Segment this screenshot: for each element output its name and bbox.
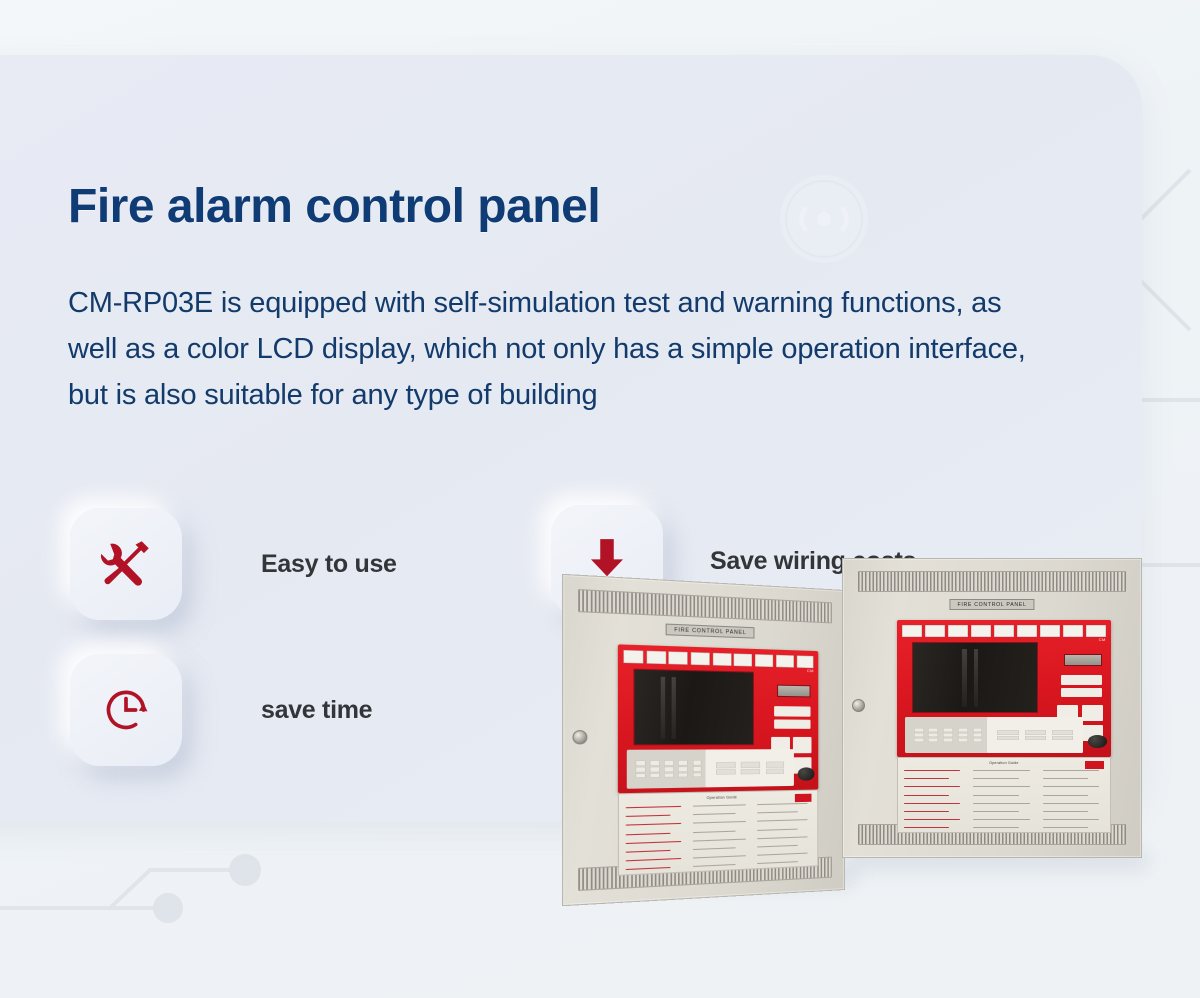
led-indicator <box>1086 625 1106 637</box>
led-indicator <box>713 653 731 666</box>
lcd-glint <box>672 677 676 739</box>
side-button[interactable] <box>1061 675 1103 685</box>
product-description: CM-RP03E is equipped with self-simulatio… <box>68 280 1043 418</box>
vent-top <box>579 589 832 623</box>
test-button[interactable] <box>741 762 760 768</box>
led-indicator <box>1017 625 1037 637</box>
guide-column <box>693 804 750 868</box>
panel-nameplate: FIRE CONTROL PANEL <box>949 599 1034 610</box>
led-indicator <box>646 651 665 665</box>
keypad-key[interactable] <box>692 772 701 777</box>
clock-rotate-icon <box>98 682 154 738</box>
guide-column <box>973 770 1034 829</box>
keypad-key[interactable] <box>958 733 968 737</box>
panel-enclosure: FIRE CONTROL PANEL <box>842 558 1142 858</box>
guide-column <box>904 770 965 829</box>
segment-display <box>777 684 811 698</box>
operation-guide-sheet: Operation Guide <box>618 790 818 876</box>
keypad-key[interactable] <box>943 728 953 732</box>
led-indicator <box>734 653 752 666</box>
panel-enclosure: FIRE CONTROL PANEL <box>562 574 845 906</box>
fire-alarm-panel-front[interactable]: FIRE CONTROL PANEL <box>842 558 1142 858</box>
keypad-key[interactable] <box>958 728 968 732</box>
panel-nameplate: FIRE CONTROL PANEL <box>666 624 755 639</box>
side-button[interactable] <box>774 706 811 716</box>
panel-lock-icon[interactable] <box>852 699 865 712</box>
fire-alarm-panel-angled[interactable]: FIRE CONTROL PANEL <box>562 574 845 906</box>
feature-label: save time <box>261 696 372 725</box>
test-button[interactable] <box>1052 736 1073 741</box>
test-button-pad[interactable] <box>706 750 794 788</box>
led-indicator <box>948 625 968 637</box>
keypad-key[interactable] <box>928 738 938 742</box>
control-face: CM <box>618 644 818 793</box>
feature-icon-card <box>70 508 182 620</box>
operation-guide-sheet: Operation Guide <box>897 757 1112 833</box>
led-indicator <box>1063 625 1083 637</box>
keypad-key[interactable] <box>650 767 660 772</box>
test-button[interactable] <box>716 762 736 768</box>
keypad-key[interactable] <box>678 766 687 771</box>
control-button[interactable] <box>793 737 812 754</box>
keypad-key[interactable] <box>692 766 701 771</box>
keypad-key[interactable] <box>650 773 660 778</box>
reset-button[interactable] <box>1088 735 1107 747</box>
feature-item-save-time[interactable]: save time <box>70 654 372 766</box>
lcd-glint <box>661 676 665 738</box>
brand-logo <box>1085 761 1104 769</box>
feature-item-easy-to-use[interactable]: Easy to use <box>70 508 397 620</box>
keypad-key[interactable] <box>635 761 645 766</box>
brand-logo <box>795 794 812 803</box>
led-indicator <box>691 652 710 666</box>
keypad-key[interactable] <box>664 760 674 765</box>
led-indicator-row <box>902 625 1106 637</box>
test-button[interactable] <box>741 769 760 775</box>
led-indicator <box>1040 625 1060 637</box>
keypad-key[interactable] <box>914 733 924 737</box>
feature-label: Easy to use <box>261 550 397 579</box>
guide-columns <box>626 803 812 872</box>
circuit-nodes-decoration <box>0 808 340 958</box>
lcd-glint <box>962 649 966 707</box>
led-indicator <box>994 625 1014 637</box>
guide-column <box>626 806 686 872</box>
keypad-key[interactable] <box>650 760 660 765</box>
keypad-key[interactable] <box>664 773 674 778</box>
test-button[interactable] <box>1025 736 1046 741</box>
guide-title: Operation Guide <box>707 795 737 800</box>
feature-icon-card <box>70 654 182 766</box>
guide-column <box>757 803 811 865</box>
lcd-screen <box>633 669 753 746</box>
test-button[interactable] <box>997 736 1018 741</box>
keypad-key[interactable] <box>678 760 687 765</box>
brand-label: CM <box>807 667 814 672</box>
led-indicator <box>902 625 922 637</box>
test-button[interactable] <box>716 769 736 775</box>
segment-display <box>1064 654 1102 667</box>
numeric-keypad[interactable] <box>627 750 710 789</box>
reset-button[interactable] <box>798 768 815 781</box>
led-indicator <box>624 650 644 664</box>
lcd-screen <box>912 642 1039 713</box>
keypad-key[interactable] <box>973 738 983 742</box>
guide-columns <box>904 770 1104 829</box>
test-button[interactable] <box>1052 730 1073 735</box>
lcd-glint <box>974 649 978 707</box>
keypad-key[interactable] <box>943 738 953 742</box>
test-button[interactable] <box>997 730 1018 735</box>
vent-top <box>858 571 1126 592</box>
test-button[interactable] <box>766 761 785 767</box>
side-button[interactable] <box>1061 688 1103 698</box>
keypad-key[interactable] <box>678 773 687 778</box>
keypad-key[interactable] <box>928 733 938 737</box>
keypad-key[interactable] <box>664 767 674 772</box>
keypad-key[interactable] <box>914 728 924 732</box>
keypad-key[interactable] <box>973 733 983 737</box>
keypad-key[interactable] <box>635 773 645 778</box>
control-button[interactable] <box>1082 705 1103 722</box>
led-indicator-row <box>624 650 814 669</box>
smoke-detector-icon <box>778 173 870 265</box>
side-button[interactable] <box>774 719 811 729</box>
led-indicator <box>669 651 688 665</box>
led-indicator <box>755 654 773 667</box>
guide-title: Operation Guide <box>989 761 1018 765</box>
keypad-key[interactable] <box>958 738 968 742</box>
tools-wrench-screwdriver-icon <box>98 536 154 592</box>
guide-column <box>1043 770 1104 829</box>
brand-label: CM <box>1099 637 1106 642</box>
keypad-key[interactable] <box>635 767 645 772</box>
keypad-key[interactable] <box>692 760 701 765</box>
test-button-pad[interactable] <box>987 717 1084 753</box>
test-button[interactable] <box>766 768 785 774</box>
numeric-keypad[interactable] <box>905 717 991 753</box>
product-image-group: FIRE CONTROL PANEL <box>520 520 1200 940</box>
keypad-key[interactable] <box>943 733 953 737</box>
keypad-key[interactable] <box>928 728 938 732</box>
led-indicator <box>925 625 945 637</box>
test-button[interactable] <box>1025 730 1046 735</box>
panel-lock-icon[interactable] <box>573 730 588 744</box>
keypad-key[interactable] <box>914 738 924 742</box>
page-title: Fire alarm control panel <box>68 181 600 234</box>
control-face: CM <box>897 620 1112 757</box>
keypad-key[interactable] <box>973 728 983 732</box>
led-indicator <box>971 625 991 637</box>
